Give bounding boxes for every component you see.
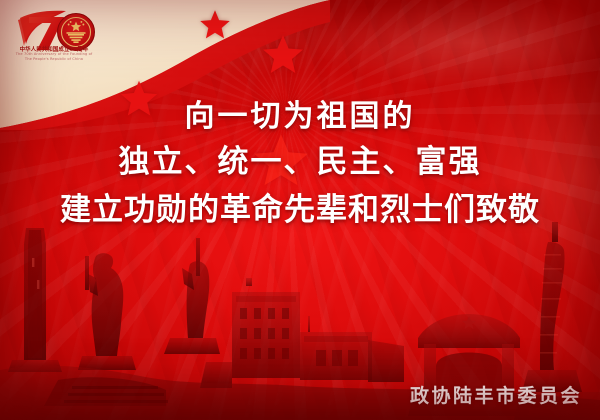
monument-tower — [8, 228, 62, 372]
emblem-caption-en-line1: The 70th Anniversary of the Founding of — [0, 52, 108, 57]
anniversary-poster: 中华人民共和国成立70周年 The 70th Anniversary of th… — [0, 0, 600, 420]
headline-block: 向一切为祖国的 独立、统一、民主、富强 建立功勋的革命先辈和烈士们致敬 — [0, 96, 600, 234]
rifle-monument — [164, 238, 220, 354]
headline-line-3: 建立功勋的革命先辈和烈士们致敬 — [0, 186, 600, 234]
organization-signature: 政协陆丰市委员会 — [410, 381, 582, 408]
emblem-caption-en-line2: The People's Republic of China — [0, 57, 108, 62]
flag-star-large — [198, 8, 232, 42]
headline-line-2: 独立、统一、民主、富强 — [0, 138, 600, 186]
flag-star-small — [260, 32, 306, 78]
headline-line-1: 向一切为祖国的 — [0, 96, 600, 138]
soldier-statue — [78, 253, 136, 370]
civic-hall — [300, 316, 404, 382]
emblem-caption-en: The 70th Anniversary of the Founding of … — [0, 52, 108, 61]
brick-building — [200, 278, 300, 388]
